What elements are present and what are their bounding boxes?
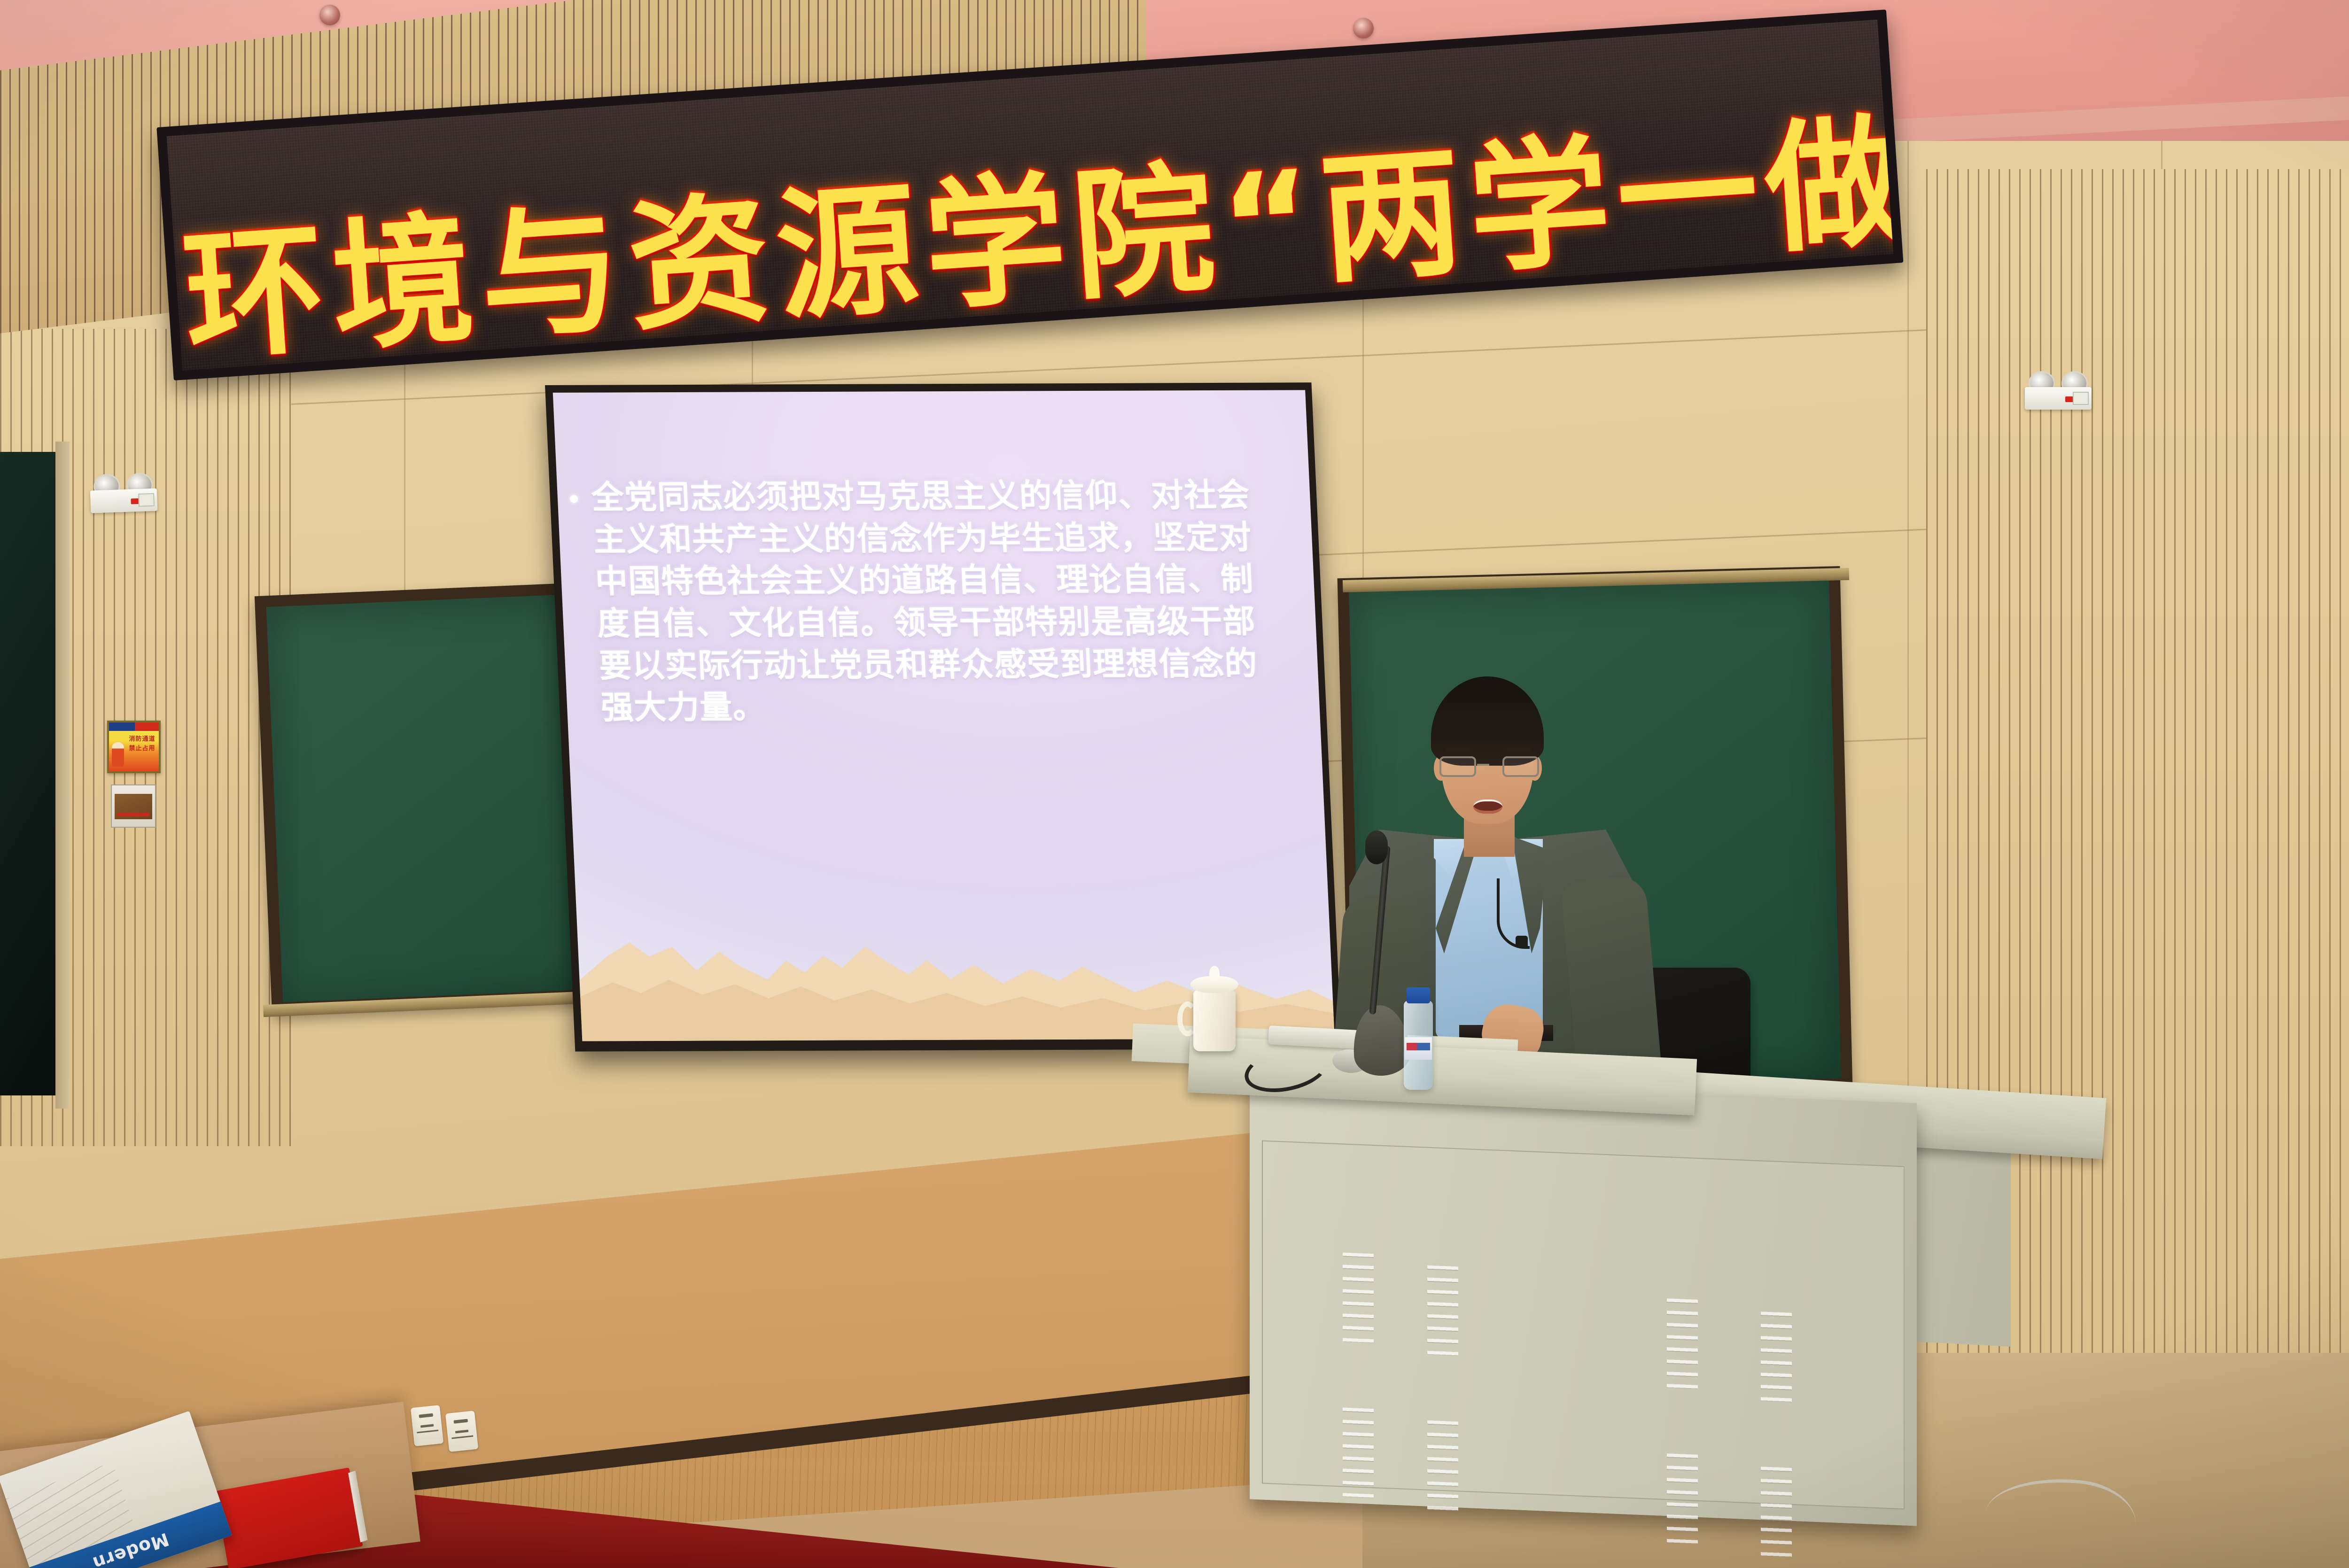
lectern-vent-column xyxy=(1343,1252,1374,1343)
sprinkler-head-icon xyxy=(319,5,340,25)
doorway[interactable] xyxy=(0,452,60,1095)
lectern-vent-column xyxy=(1761,1467,1792,1557)
lectern-vent-column xyxy=(1427,1421,1458,1511)
wall-seam xyxy=(1907,141,1909,1221)
lectern-front-panel xyxy=(1262,1141,1905,1510)
projection-screen: 全党同志必须把对马克思主义的信仰、对社会主义和共产主义的信念作为毕生追求，坚定对… xyxy=(545,382,1342,1051)
lectern-vent-column xyxy=(1427,1265,1458,1356)
fire-hose-cabinet[interactable] xyxy=(111,784,156,828)
emergency-light-body xyxy=(2025,387,2092,410)
eyebrow-left xyxy=(1445,748,1474,753)
water-bottle-label xyxy=(1405,1037,1432,1060)
water-bottle-cap xyxy=(1407,987,1430,1003)
arm-right xyxy=(1561,875,1663,1084)
lectern-vent-column xyxy=(1667,1298,1698,1389)
lectern[interactable] xyxy=(1250,1076,1917,1526)
projection-screen-frame: 全党同志必须把对马克思主义的信仰、对社会主义和共产主义的信念作为毕生追求，坚定对… xyxy=(545,382,1342,1051)
fire-safety-poster: 消防通道 禁止占用 xyxy=(107,721,161,773)
door-frame-trim xyxy=(55,442,70,1109)
lectern-vent-column xyxy=(1667,1453,1698,1544)
fire-cabinet-window xyxy=(115,794,152,819)
emergency-light-test-panel[interactable] xyxy=(2073,392,2089,405)
glasses-bridge xyxy=(1477,764,1489,766)
wall-outlet[interactable] xyxy=(411,1405,443,1446)
emergency-light-right xyxy=(2023,371,2093,410)
microphone-head-icon xyxy=(1365,831,1388,864)
eyeglasses-icon xyxy=(1439,756,1539,780)
projection-screen-surface: 全党同志必须把对马克思主义的信仰、对社会主义和共产主义的信念作为毕生追求，坚定对… xyxy=(553,390,1335,1041)
emergency-light-left xyxy=(88,472,160,513)
lecture-hall-scene: 消防通道 禁止占用 全党同志必须把对马克思主义的信仰 xyxy=(0,0,2349,1568)
lectern-vent-column xyxy=(1761,1312,1792,1402)
mug-lid-knob xyxy=(1209,966,1220,981)
lapel-microphone-icon xyxy=(1516,936,1528,948)
fire-poster-header-band xyxy=(109,722,159,731)
slide-body-text: 全党同志必须把对马克思主义的信仰、对社会主义和共产主义的信念作为毕生追求，坚定对… xyxy=(591,474,1292,730)
firefighter-mascot-icon xyxy=(112,742,124,767)
lectern-vent-column xyxy=(1343,1407,1374,1498)
lens-right xyxy=(1502,756,1539,777)
sprinkler-head-icon xyxy=(1353,18,1374,39)
fire-poster-text: 消防通道 禁止占用 xyxy=(128,735,156,753)
eyebrow-right xyxy=(1502,748,1532,753)
tea-mug[interactable] xyxy=(1193,990,1236,1051)
wall-outlet[interactable] xyxy=(445,1411,478,1452)
slide-bullet-marker xyxy=(570,495,578,503)
lens-left xyxy=(1439,756,1476,777)
emergency-light-body xyxy=(90,489,158,513)
emergency-light-test-panel[interactable] xyxy=(138,493,155,507)
mouth xyxy=(1473,800,1502,814)
